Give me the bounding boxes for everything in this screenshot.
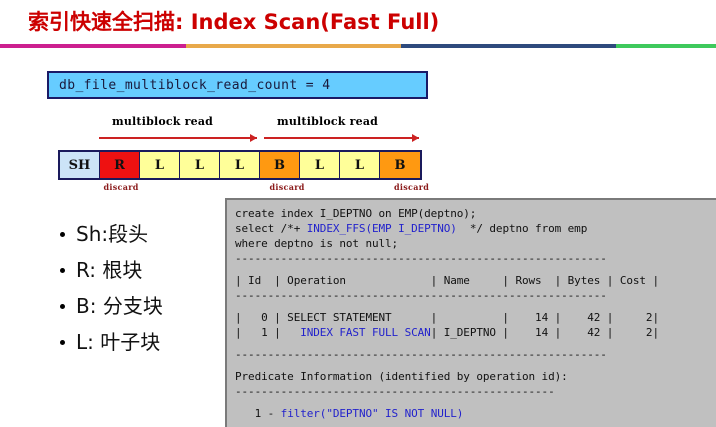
arrow-shaft (99, 137, 257, 139)
plan-row-1-operation-highlight: INDEX FAST FULL SCAN (300, 326, 430, 339)
index-block-label: L (355, 158, 364, 173)
divider-segment-magenta (0, 44, 186, 48)
plan-table-header: | Id | Operation | Name | Rows | Bytes |… (235, 273, 716, 288)
predicate-entry-prefix: 1 - (235, 407, 281, 420)
plan-rule-predicate-sep: ----------------------------------------… (235, 384, 716, 399)
page-title: 索引快速全扫描: Index Scan(Fast Full) (28, 6, 439, 36)
multiblock-read-label-2: multiblock read (277, 115, 378, 128)
multiblock-read-arrow-1 (99, 134, 257, 143)
legend-item-label: Sh:段头 (76, 218, 148, 247)
plan-spacer (235, 362, 716, 369)
legend-item-label: R: 根块 (76, 254, 142, 283)
divider-segment-navy (401, 44, 616, 48)
parameter-callout-box: db_file_multiblock_read_count = 4 (47, 71, 428, 99)
predicate-heading: Predicate Information (identified by ope… (235, 369, 716, 384)
index-block-sh-0: SH (60, 152, 100, 178)
bullet-icon (60, 304, 65, 309)
plan-spacer (235, 303, 716, 310)
index-block-label: B (395, 158, 406, 173)
index-block-label: L (235, 158, 244, 173)
plan-spacer (235, 399, 716, 406)
plan-rule-header-sep: ----------------------------------------… (235, 288, 716, 303)
arrow-shaft (264, 137, 419, 139)
index-block-label: B (274, 158, 285, 173)
index-block-row: SHRLLLBLLB (58, 150, 422, 180)
plan-spacer (235, 266, 716, 273)
bullet-icon (60, 340, 65, 345)
multiblock-read-label-1: multiblock read (112, 115, 213, 128)
arrow-head-icon (412, 134, 419, 142)
bullet-icon (60, 232, 65, 237)
plan-row-1-pre: | 1 | (235, 326, 300, 339)
sql-hint-index-ffs: INDEX_FFS(EMP I_DEPTNO) (307, 222, 457, 235)
index-block-label: L (155, 158, 164, 173)
sql-line-create: create index I_DEPTNO on EMP(deptno); (235, 206, 716, 221)
legend-item-label: B: 分支块 (76, 290, 163, 319)
index-block-label: L (195, 158, 204, 173)
index-block-r-1: R (100, 152, 140, 178)
sql-select-suffix: */ deptno from emp (457, 222, 587, 235)
sql-line-where: where deptno is not null; (235, 236, 716, 251)
parameter-text: db_file_multiblock_read_count = 4 (59, 78, 330, 93)
legend-item-label: L: 叶子块 (76, 326, 160, 355)
legend-item-3: L: 叶子块 (60, 326, 225, 355)
legend-item-0: Sh:段头 (60, 218, 225, 247)
title-divider (0, 44, 716, 48)
index-block-l-4: L (220, 152, 260, 178)
table-row: | 1 | INDEX FAST FULL SCAN| I_DEPTNO | 1… (235, 325, 716, 340)
index-block-l-6: L (300, 152, 340, 178)
divider-segment-green (616, 44, 716, 48)
sql-line-select: select /*+ INDEX_FFS(EMP I_DEPTNO) */ de… (235, 221, 716, 236)
discard-label: discard (394, 182, 429, 192)
legend-list: Sh:段头R: 根块B: 分支块L: 叶子块 (60, 218, 225, 362)
index-block-l-2: L (140, 152, 180, 178)
plan-spacer (235, 340, 716, 347)
sql-select-prefix: select /*+ (235, 222, 307, 235)
discard-label: discard (104, 182, 139, 192)
plan-row-0-post: | 14 | 42 | 2| (437, 311, 659, 324)
plan-row-0-pre: | 0 | SELECT STATEMENT | (235, 311, 437, 324)
legend-item-1: R: 根块 (60, 254, 225, 283)
divider-segment-orange (186, 44, 401, 48)
discard-label: discard (270, 182, 305, 192)
bullet-icon (60, 268, 65, 273)
predicate-filter-expression: filter("DEPTNO" IS NOT NULL) (281, 407, 464, 420)
multiblock-read-arrow-2 (264, 134, 419, 143)
plan-row-1-post: | I_DEPTNO | 14 | 42 | 2| (431, 326, 659, 339)
index-block-label: L (315, 158, 324, 173)
index-block-b-8: B (380, 152, 420, 178)
predicate-entry: 1 - filter("DEPTNO" IS NOT NULL) (235, 406, 716, 421)
index-block-l-3: L (180, 152, 220, 178)
explain-plan-panel: create index I_DEPTNO on EMP(deptno); se… (225, 198, 716, 427)
index-block-label: R (114, 158, 125, 173)
arrow-head-icon (250, 134, 257, 142)
index-block-b-5: B (260, 152, 300, 178)
index-block-label: SH (69, 158, 91, 173)
table-row: | 0 | SELECT STATEMENT | | 14 | 42 | 2| (235, 310, 716, 325)
index-block-l-7: L (340, 152, 380, 178)
plan-rule-top: ----------------------------------------… (235, 251, 716, 266)
legend-item-2: B: 分支块 (60, 290, 225, 319)
plan-rule-bottom: ----------------------------------------… (235, 347, 716, 362)
